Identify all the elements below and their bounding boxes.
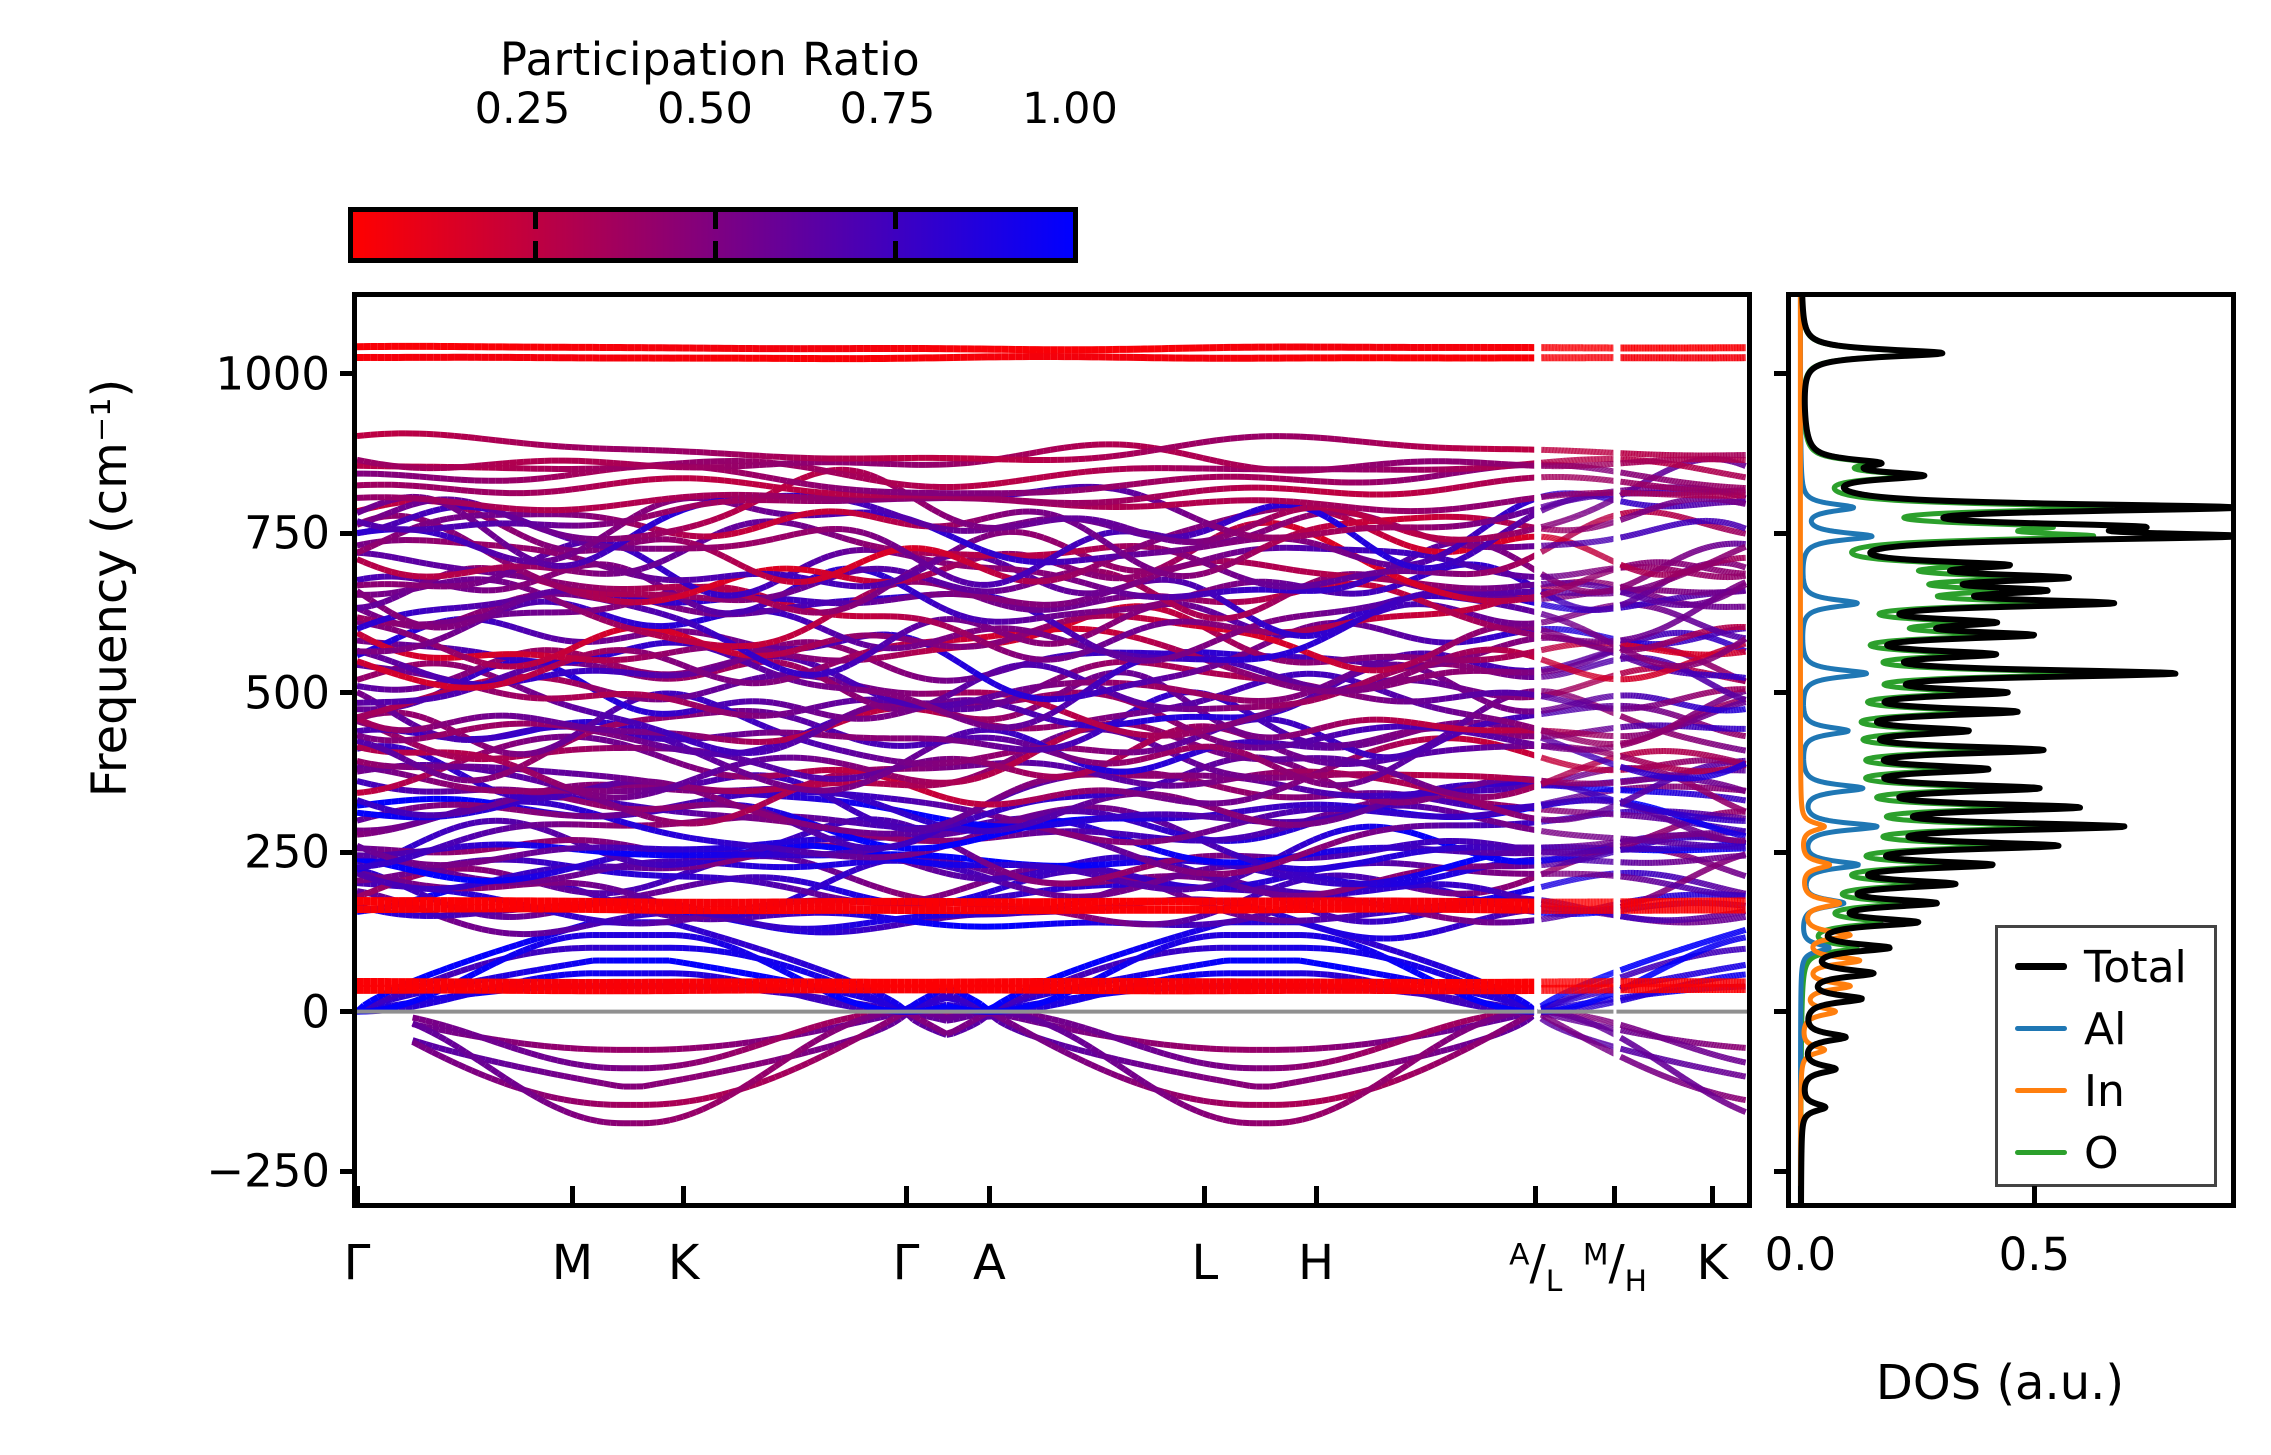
dos-y-tick-mark (1774, 531, 1791, 536)
band-curves-svg (357, 297, 1747, 1203)
y-tick-label: 500 (100, 666, 330, 719)
x-tick-label: A/L (1509, 1235, 1562, 1299)
y-tick-label: 750 (100, 507, 330, 560)
dos-y-tick-mark (1774, 690, 1791, 695)
dos-x-tick-mark (1798, 1186, 1803, 1203)
y-tick-mark (340, 1009, 357, 1014)
legend-color-swatch (2015, 1150, 2067, 1155)
x-tick-mark (1314, 1186, 1319, 1203)
x-tick-mark (570, 1186, 575, 1203)
y-tick-mark (340, 1169, 357, 1174)
x-tick-label: K (668, 1235, 699, 1291)
x-tick-label: M/H (1583, 1235, 1647, 1299)
y-tick-label: 0 (100, 985, 330, 1038)
x-tick-mark (1533, 1186, 1538, 1203)
y-tick-label: 250 (100, 826, 330, 879)
legend-label: In (2084, 1066, 2125, 1118)
legend-color-swatch (2015, 1026, 2067, 1031)
legend-item: In (1998, 1062, 2214, 1122)
x-tick-mark (1612, 1186, 1617, 1203)
dos-curve-al (1800, 297, 1877, 1203)
dos-x-tick-label: 0.0 (1765, 1228, 1837, 1281)
x-tick-mark (1202, 1186, 1207, 1203)
dos-y-tick-mark (1774, 1009, 1791, 1014)
x-tick-label: Γ (893, 1235, 920, 1291)
y-tick-mark (340, 371, 357, 376)
dos-x-tick-label: 0.5 (1999, 1228, 2071, 1281)
x-tick-label: L (1192, 1235, 1219, 1291)
y-tick-mark (340, 690, 357, 695)
legend-item: Total (1998, 938, 2214, 998)
y-tick-label: −250 (100, 1145, 330, 1198)
legend-color-swatch (2015, 1088, 2067, 1093)
dos-y-tick-mark (1774, 1169, 1791, 1174)
legend-label: Total (2084, 942, 2187, 994)
x-tick-mark (987, 1186, 992, 1203)
legend-color-swatch (2015, 963, 2067, 970)
x-tick-mark (681, 1186, 686, 1203)
x-tick-label: H (1298, 1235, 1334, 1291)
dos-legend: TotalAlInO (1995, 925, 2217, 1187)
legend-item: Al (1998, 1000, 2214, 1060)
legend-label: Al (2084, 1004, 2126, 1056)
x-tick-mark (904, 1186, 909, 1203)
dos-x-tick-mark (2032, 1186, 2037, 1203)
x-tick-mark (355, 1186, 360, 1203)
legend-item: O (1998, 1124, 2214, 1184)
dos-axis-label: DOS (a.u.) (1760, 1355, 2240, 1411)
y-tick-mark (340, 850, 357, 855)
dos-y-tick-mark (1774, 371, 1791, 376)
x-tick-label: M (552, 1235, 593, 1291)
band-curves-area (357, 297, 1747, 1203)
y-tick-mark (340, 531, 357, 536)
dos-y-tick-mark (1774, 850, 1791, 855)
x-tick-label: A (973, 1235, 1006, 1291)
x-tick-label: K (1697, 1235, 1728, 1291)
x-tick-mark (1710, 1186, 1715, 1203)
y-tick-label: 1000 (100, 347, 330, 400)
legend-label: O (2084, 1128, 2119, 1180)
x-tick-label: Γ (344, 1235, 371, 1291)
band-structure-plot (352, 292, 1752, 1208)
